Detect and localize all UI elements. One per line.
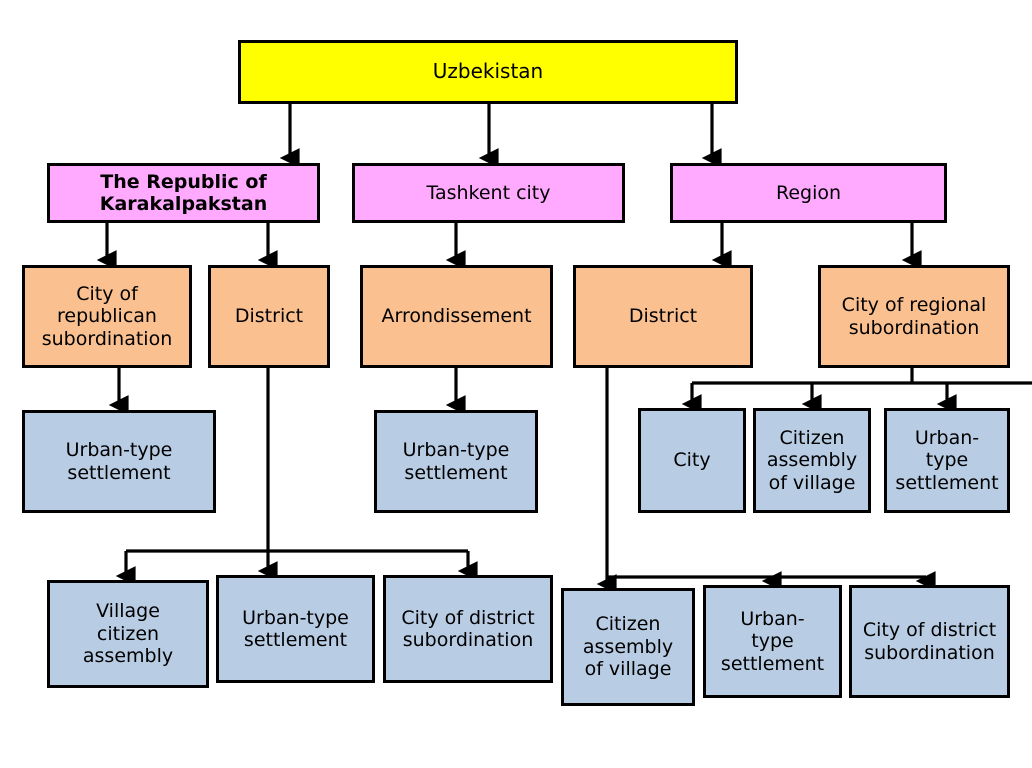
node-region[interactable]: Region — [670, 163, 947, 223]
node-city-district-sub-reg[interactable]: City of district subordination — [849, 585, 1010, 698]
node-city-regional-sub[interactable]: City of regional subordination — [818, 265, 1010, 368]
node-label-village-citizen-assembly: Village citizen assembly — [54, 600, 202, 667]
node-label-city-republican-sub: City of republican subordination — [29, 283, 185, 350]
node-label-district-kk: District — [215, 305, 323, 327]
node-city-republican-sub[interactable]: City of republican subordination — [22, 265, 192, 368]
node-citizen-assembly-dist[interactable]: Citizen assembly of village — [561, 588, 695, 706]
node-district-region[interactable]: District — [573, 265, 753, 368]
node-label-region: Region — [677, 182, 940, 204]
node-label-uts-kk-city: Urban-type settlement — [29, 439, 209, 484]
node-label-tashkent-city: Tashkent city — [359, 182, 618, 204]
flowchart-canvas: UzbekistanThe Republic of Karakalpakstan… — [0, 0, 1032, 768]
node-label-karakalpakstan: The Republic of Karakalpakstan — [54, 171, 313, 216]
node-arrondissement[interactable]: Arrondissement — [360, 265, 553, 368]
node-label-city-district-sub-kk: City of district subordination — [390, 607, 546, 652]
node-label-uts-arrondissement: Urban-type settlement — [381, 439, 531, 484]
node-uts-kk-city[interactable]: Urban-type settlement — [22, 410, 216, 513]
node-city-district-sub-kk[interactable]: City of district subordination — [383, 575, 553, 683]
node-uts-reg[interactable]: Urban- type settlement — [884, 408, 1010, 513]
node-label-district-region: District — [580, 305, 746, 327]
node-karakalpakstan[interactable]: The Republic of Karakalpakstan — [47, 163, 320, 223]
node-label-uts-district-reg: Urban- type settlement — [710, 608, 835, 675]
node-uts-district-kk[interactable]: Urban-type settlement — [216, 575, 375, 683]
node-uts-district-reg[interactable]: Urban- type settlement — [703, 585, 842, 698]
node-village-citizen-assembly[interactable]: Village citizen assembly — [47, 580, 209, 688]
node-label-citizen-assembly-dist: Citizen assembly of village — [568, 613, 688, 680]
node-label-uts-reg: Urban- type settlement — [891, 427, 1003, 494]
node-label-city-district-sub-reg: City of district subordination — [856, 619, 1003, 664]
node-label-uts-district-kk: Urban-type settlement — [223, 607, 368, 652]
node-label-city-regional-sub: City of regional subordination — [825, 294, 1003, 339]
node-citizen-assembly-reg[interactable]: Citizen assembly of village — [753, 408, 871, 513]
node-city-reg[interactable]: City — [638, 408, 746, 513]
node-label-uzbekistan: Uzbekistan — [245, 60, 731, 84]
node-tashkent-city[interactable]: Tashkent city — [352, 163, 625, 223]
node-uzbekistan[interactable]: Uzbekistan — [238, 40, 738, 104]
node-uts-arrondissement[interactable]: Urban-type settlement — [374, 410, 538, 513]
node-label-citizen-assembly-reg: Citizen assembly of village — [760, 427, 864, 494]
node-label-arrondissement: Arrondissement — [367, 305, 546, 327]
node-label-city-reg: City — [645, 449, 739, 471]
node-district-kk[interactable]: District — [208, 265, 330, 368]
